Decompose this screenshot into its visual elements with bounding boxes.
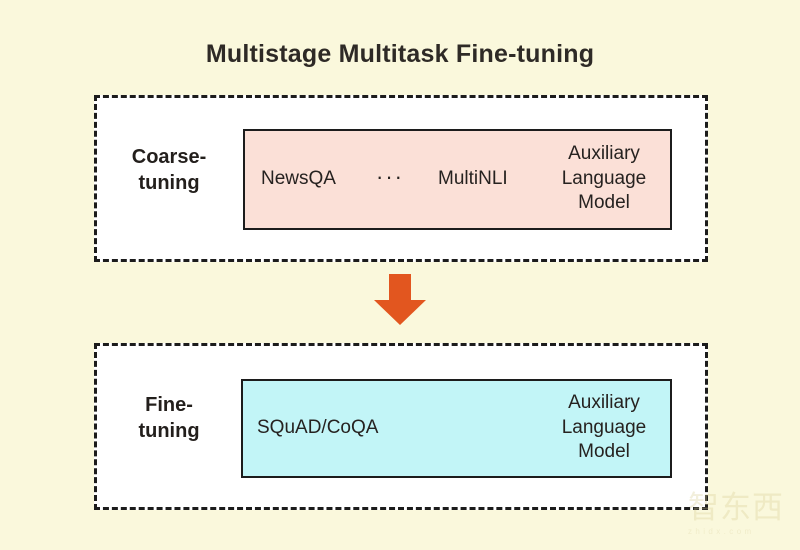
watermark-domain-text: zhidx.com: [688, 527, 796, 536]
ellipsis-icon: ···: [376, 166, 404, 188]
down-arrow-icon: [373, 274, 427, 326]
stage-label-coarse-tuning: Coarse- tuning: [104, 145, 234, 196]
dataset-label-squad-coqa: SQuAD/CoQA: [257, 417, 378, 439]
auxiliary-language-model-coarse: Auxiliary Language Model: [543, 142, 665, 216]
diagram-canvas: Multistage Multitask Fine-tuning Coarse-…: [0, 0, 800, 550]
page-title: Multistage Multitask Fine-tuning: [0, 40, 800, 69]
dataset-label-multinli: MultiNLI: [438, 168, 508, 190]
dataset-label-newsqa: NewsQA: [261, 168, 336, 190]
stage-label-fine-tuning: Fine- tuning: [104, 393, 234, 444]
auxiliary-language-model-fine: Auxiliary Language Model: [543, 391, 665, 465]
